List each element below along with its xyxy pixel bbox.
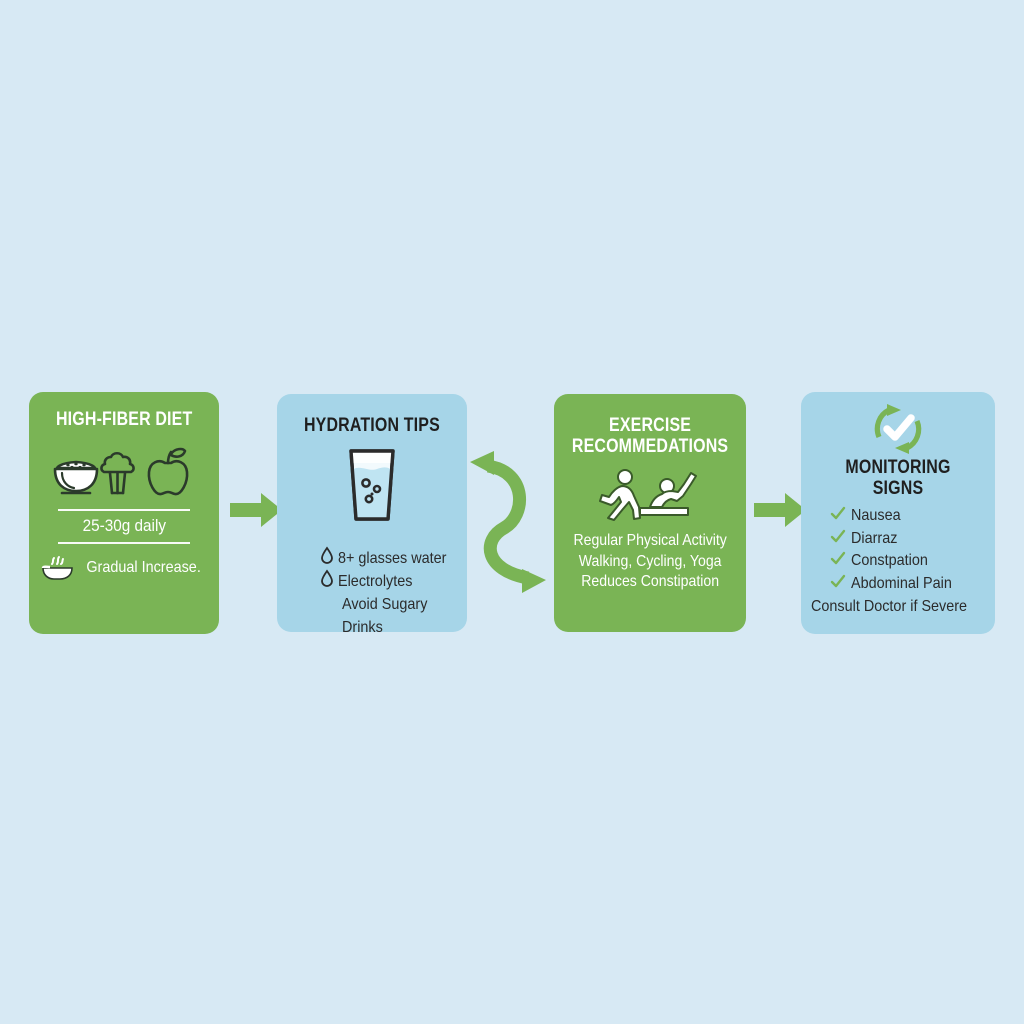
card-monitoring-signs[interactable]: MONITORING SIGNS Nausea Diarraz Constpat… xyxy=(801,392,995,634)
card-hydration-tips[interactable]: HYDRATION TIPS 8+ glasses wat xyxy=(277,394,467,632)
broccoli-icon xyxy=(101,453,133,493)
list-item[interactable]: Abdominal Pain xyxy=(809,573,987,596)
water-drop-icon xyxy=(321,547,333,563)
list-item[interactable]: Consult Doctor if Severe xyxy=(809,596,987,619)
list-item-label: Nausea xyxy=(851,505,901,528)
check-icon xyxy=(831,575,845,588)
check-icon xyxy=(831,552,845,565)
running-person-icon xyxy=(600,470,640,520)
gradual-increase-label: Gradual Increase. xyxy=(86,559,200,577)
list-item-label: Consult Doctor if Severe xyxy=(811,596,967,619)
gradual-increase-row: Gradual Increase. xyxy=(41,555,207,581)
arrow-hydration-exercise xyxy=(466,444,562,604)
infographic-canvas: HIGH-FIBER DIET xyxy=(0,0,1024,1024)
fiber-dose-value: 25-30g daily xyxy=(82,511,165,542)
exercise-icon-group xyxy=(592,467,708,523)
steaming-bowl-icon xyxy=(41,555,75,581)
monitoring-icon-group xyxy=(867,400,929,458)
card-title-monitoring-signs: MONITORING SIGNS xyxy=(823,458,973,499)
hydration-item-list: 8+ glasses water Electrolytes Avoid Suga… xyxy=(277,547,467,632)
list-item[interactable]: Electrolytes xyxy=(305,570,467,594)
list-item[interactable]: 8+ glasses water xyxy=(305,547,467,571)
list-item-label: 8+ glasses water xyxy=(338,548,446,571)
exercise-body-text: Regular Physical Activity Walking, Cycli… xyxy=(573,531,726,592)
list-item-label: Diarraz xyxy=(851,528,897,551)
apple-icon xyxy=(149,449,187,494)
s-curve-double-arrow-icon xyxy=(466,444,562,604)
stretching-person-icon xyxy=(640,473,696,515)
check-icon xyxy=(887,418,911,437)
running-and-stretching-icons xyxy=(592,468,708,522)
list-item[interactable]: Diarraz xyxy=(809,528,987,551)
list-item-label: Electrolytes xyxy=(338,571,412,594)
card-title-exercise-recommendations: EXERCISE RECOMMEDATIONS xyxy=(572,416,728,457)
food-icon-group xyxy=(49,439,199,501)
monitoring-item-list: Nausea Diarraz Constpation Abdominal Pai… xyxy=(809,505,987,619)
refresh-check-icon xyxy=(867,401,929,457)
check-icon xyxy=(831,530,845,543)
water-glass-icon xyxy=(341,445,403,525)
card-exercise-recommendations[interactable]: EXERCISE RECOMMEDATIONS Regular Physical… xyxy=(554,394,746,632)
card-high-fiber-diet[interactable]: HIGH-FIBER DIET xyxy=(29,392,219,634)
card-title-high-fiber-diet: HIGH-FIBER DIET xyxy=(56,410,192,431)
rice-bowl-broccoli-apple-icons xyxy=(49,441,199,499)
list-item-label: Constpation xyxy=(851,550,928,573)
list-item-label: Abdominal Pain xyxy=(851,573,952,596)
check-icon xyxy=(831,507,845,520)
card-title-hydration-tips: HYDRATION TIPS xyxy=(304,416,440,437)
list-item[interactable]: Nausea xyxy=(809,505,987,528)
rice-bowl-icon xyxy=(55,462,97,493)
list-item-label: Avoid Sugary Drinks xyxy=(342,594,465,632)
list-item[interactable]: Constpation xyxy=(809,550,987,573)
water-drop-icon xyxy=(321,570,333,586)
list-item[interactable]: Avoid Sugary Drinks xyxy=(305,594,467,632)
water-glass-icon-group xyxy=(341,445,403,525)
divider-bottom xyxy=(58,542,190,544)
